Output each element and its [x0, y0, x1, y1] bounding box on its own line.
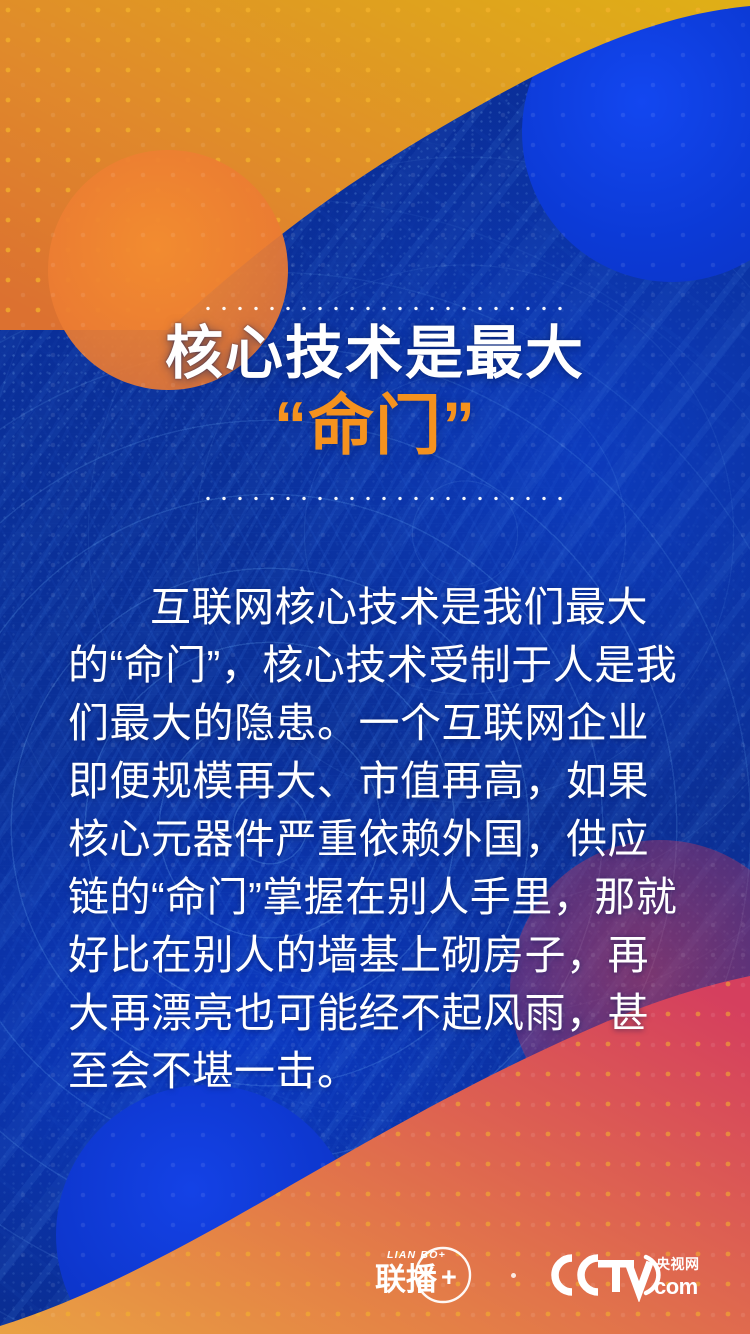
- lianbo-name-cn: 联播: [375, 1262, 438, 1297]
- poster-canvas: 核心技术是最大 “命门” 互联网核心技术是我们最大的“命门”，核心技术受制于人是…: [0, 0, 750, 1334]
- cctv-logo[interactable]: 央视网 com: [542, 1248, 710, 1302]
- body-text-block: 互联网核心技术是我们最大的“命门”，核心技术受制于人是我们最大的隐患。一个互联网…: [68, 578, 682, 1100]
- poster-content: 核心技术是最大 “命门” 互联网核心技术是我们最大的“命门”，核心技术受制于人是…: [0, 0, 750, 1334]
- title-line-primary: 核心技术是最大: [0, 322, 750, 386]
- cctv-name-cn: 央视网: [656, 1256, 700, 1272]
- lianbo-pinyin: LIAN BO+: [387, 1249, 446, 1261]
- footer-bar: LIAN BO+ 联播 +: [0, 1214, 750, 1334]
- body-paragraph: 互联网核心技术是我们最大的“命门”，核心技术受制于人是我们最大的隐患。一个互联网…: [68, 578, 682, 1100]
- logo-separator-dot: [511, 1273, 516, 1278]
- lianbo-logo[interactable]: LIAN BO+ 联播 +: [357, 1244, 485, 1306]
- dotted-divider-top: [200, 306, 572, 311]
- dotted-divider-bottom: [200, 496, 572, 501]
- cctv-domain: com: [654, 1274, 698, 1299]
- lianbo-plus: +: [441, 1262, 457, 1292]
- logo-group: LIAN BO+ 联播 +: [357, 1244, 710, 1306]
- title-line-highlight: “命门”: [0, 388, 750, 462]
- title-block: 核心技术是最大 “命门”: [0, 322, 750, 462]
